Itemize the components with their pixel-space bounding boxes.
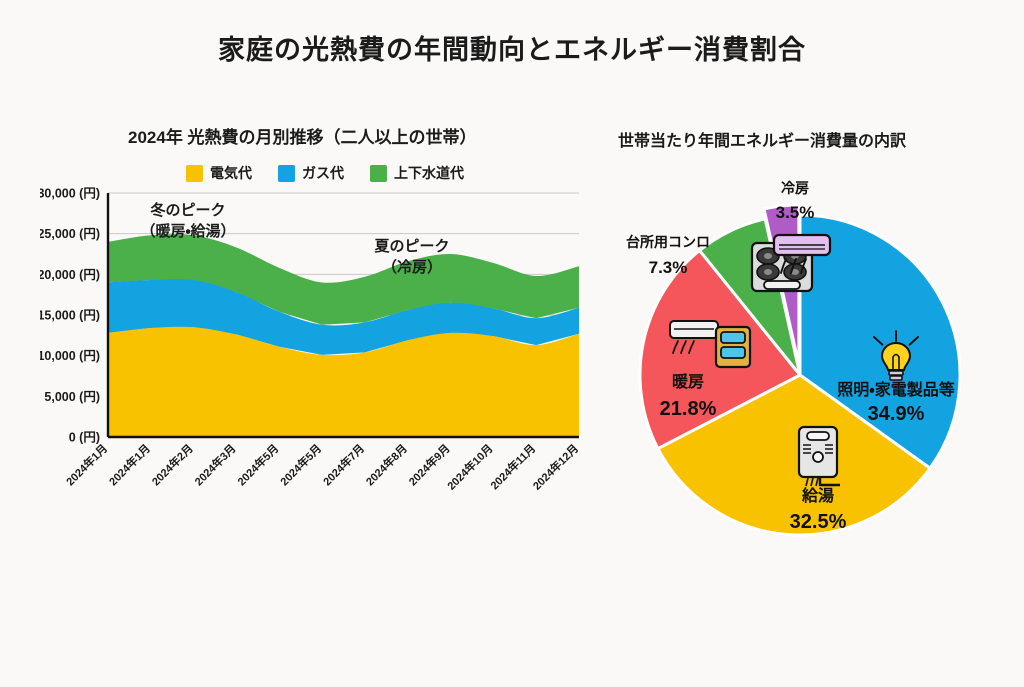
area-x-tick-labels: 2024年1月2024年1月2024年2月2024年3月2024年5月2024年… [63, 441, 581, 492]
x-tick-label: 2024年1月 [106, 441, 153, 488]
area-chart: 0 (円)5,000 (円)10,000 (円)15,000 (円)20,000… [40, 185, 585, 515]
x-tick-label: 2024年3月 [191, 441, 238, 488]
pie-slice-label-0: 照明・家電製品等 [837, 380, 954, 399]
annotation-winter-peak: 冬のピーク（暖房・給湯） [140, 201, 235, 240]
y-tick-label: 10,000 (円) [40, 349, 100, 363]
pie-chart: 照明・家電製品等34.9%給湯32.5%暖房21.8%台所用コンロ7.3%冷房3… [585, 160, 1015, 590]
water-heater-icon [799, 427, 840, 486]
legend-label-water: 上下水道代 [394, 163, 464, 183]
annotation-line2: （冷房） [382, 258, 442, 276]
pie-slice-value-3: 7.3% [649, 258, 688, 277]
pie-slice-value-1: 32.5% [790, 511, 847, 533]
area-chart-title: 2024年 光熱費の月別推移（二人以上の世帯） [128, 123, 477, 148]
area-y-tick-labels: 0 (円)5,000 (円)10,000 (円)15,000 (円)20,000… [40, 187, 100, 445]
infographic-page: 家庭の光熱費の年間動向とエネルギー消費割合 2024年 光熱費の月別推移（二人以… [0, 0, 1024, 687]
area-chart-legend: 電気代 ガス代 上下水道代 [186, 163, 464, 183]
legend-swatch-water [370, 165, 387, 182]
y-tick-label: 25,000 (円) [40, 227, 100, 241]
x-tick-label: 2024年9月 [406, 441, 453, 488]
x-tick-label: 2024年1月 [63, 441, 110, 488]
annotation-line2: （暖房・給湯） [140, 222, 235, 240]
y-tick-label: 5,000 (円) [44, 390, 100, 404]
pie-slice-value-2: 21.8% [660, 398, 717, 420]
pie-chart-svg: 照明・家電製品等34.9%給湯32.5%暖房21.8%台所用コンロ7.3%冷房3… [585, 160, 1015, 590]
x-tick-label: 2024年7月 [320, 441, 367, 488]
pie-slice-label-4: 冷房 [781, 180, 809, 196]
annotation-line1: 冬のピーク [149, 201, 225, 219]
pie-slice-value-4: 3.5% [776, 203, 815, 222]
page-title: 家庭の光熱費の年間動向とエネルギー消費割合 [0, 28, 1024, 67]
legend-label-gas: ガス代 [302, 163, 344, 183]
legend-swatch-electricity [186, 165, 203, 182]
x-tick-label: 2024年10月 [444, 441, 495, 492]
x-tick-label: 2024年8月 [363, 441, 410, 488]
area-chart-svg: 0 (円)5,000 (円)10,000 (円)15,000 (円)20,000… [40, 185, 585, 515]
pie-slice-label-3: 台所用コンロ [626, 234, 710, 250]
y-tick-label: 0 (円) [69, 431, 100, 445]
legend-item-water: 上下水道代 [370, 163, 464, 183]
pie-slice-label-1: 給湯 [801, 486, 834, 505]
pie-slice-value-0: 34.9% [868, 403, 925, 425]
pie-chart-title: 世帯当たり年間エネルギー消費量の内訳 [618, 127, 906, 151]
legend-swatch-gas [278, 165, 295, 182]
y-tick-label: 15,000 (円) [40, 309, 100, 323]
x-tick-label: 2024年2月 [149, 441, 196, 488]
x-tick-label: 2024年12月 [530, 441, 581, 492]
y-tick-label: 30,000 (円) [40, 187, 100, 201]
area-series-group [108, 234, 579, 437]
legend-item-electricity: 電気代 [186, 163, 252, 183]
x-tick-label: 2024年5月 [234, 441, 281, 488]
y-tick-label: 20,000 (円) [40, 268, 100, 282]
pie-slice-label-2: 暖房 [672, 372, 704, 391]
annotation-line1: 夏のピーク [373, 238, 449, 255]
x-tick-label: 2024年5月 [277, 441, 324, 488]
legend-label-electricity: 電気代 [210, 163, 252, 183]
legend-item-gas: ガス代 [278, 163, 344, 183]
